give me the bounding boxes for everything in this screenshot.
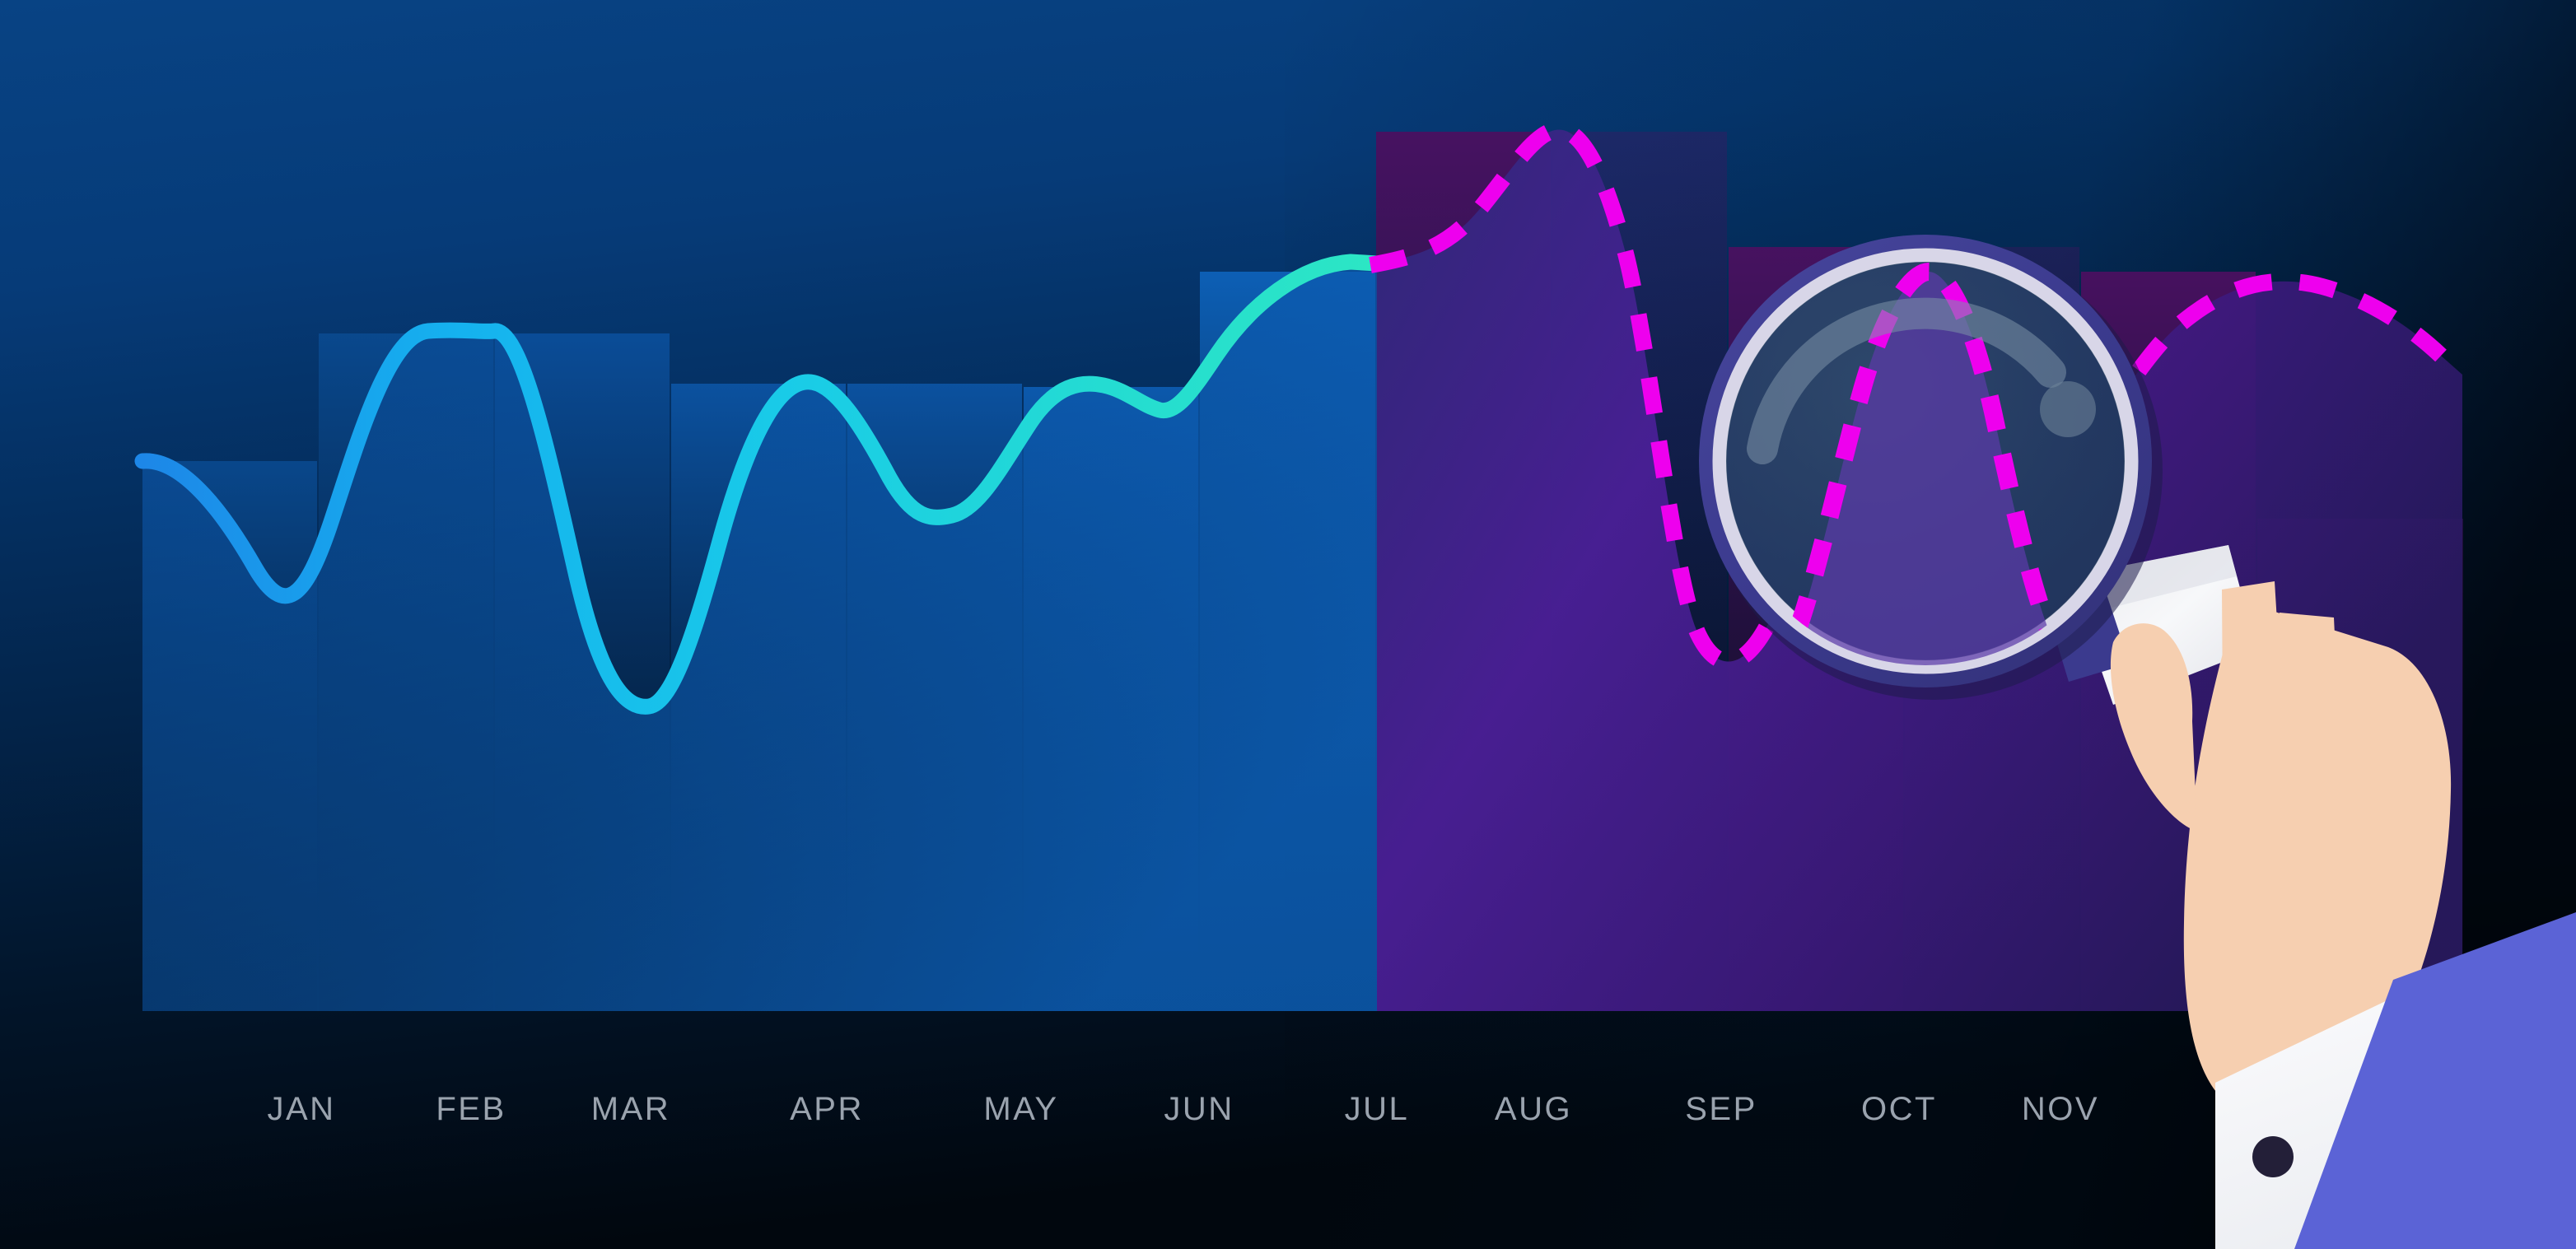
x-tick-oct: OCT bbox=[1861, 1091, 1937, 1127]
x-tick-aug: AUG bbox=[1495, 1091, 1572, 1127]
x-tick-apr: APR bbox=[790, 1091, 864, 1127]
x-tick-nov: NOV bbox=[2022, 1091, 2099, 1127]
x-tick-may: MAY bbox=[983, 1091, 1058, 1127]
x-tick-jul: JUL bbox=[1345, 1091, 1410, 1127]
magnifier-glint-dot bbox=[2040, 381, 2096, 437]
chart-illustration-svg: JAN FEB MAR APR MAY JUN JUL AUG SEP OCT … bbox=[0, 0, 2576, 1249]
x-tick-mar: MAR bbox=[591, 1091, 670, 1127]
x-tick-jun: JUN bbox=[1164, 1091, 1234, 1127]
cuff-button bbox=[2252, 1136, 2294, 1177]
illustration-canvas: JAN FEB MAR APR MAY JUN JUL AUG SEP OCT … bbox=[0, 0, 2576, 1249]
x-tick-sep: SEP bbox=[1685, 1091, 1757, 1127]
x-tick-feb: FEB bbox=[436, 1091, 506, 1127]
x-tick-jan: JAN bbox=[267, 1091, 335, 1127]
